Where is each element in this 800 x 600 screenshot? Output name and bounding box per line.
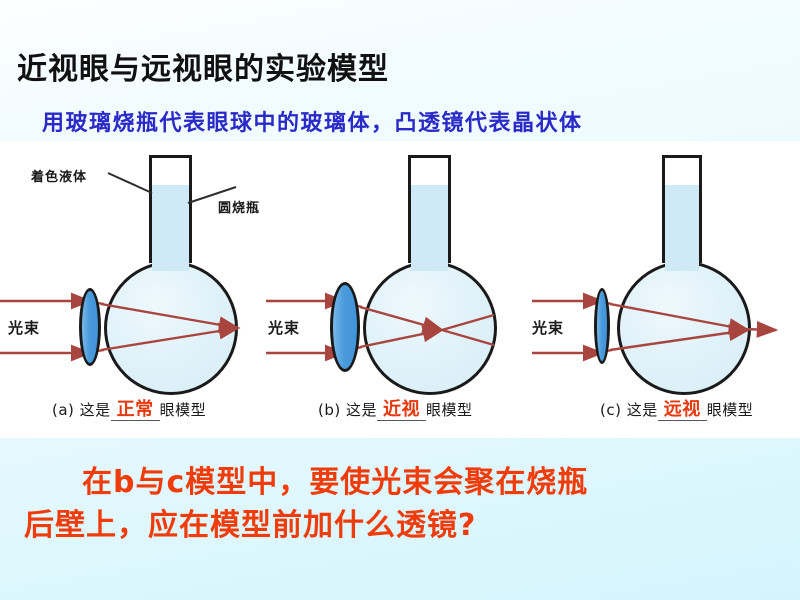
caption-c-suffix: 眼模型 bbox=[707, 401, 754, 419]
page-subtitle: 用玻璃烧瓶代表眼球中的玻璃体，凸透镜代表晶状体 bbox=[42, 105, 583, 137]
convex-lens-a[interactable] bbox=[79, 288, 101, 366]
caption-a-answer[interactable]: 正常 bbox=[111, 401, 160, 421]
question-line-1: 在b与c模型中，要使光束会聚在烧瓶 bbox=[24, 462, 784, 505]
caption-b-prefix: (b) 这是 bbox=[318, 401, 377, 419]
flask-model-c: 光束 bbox=[532, 141, 798, 403]
caption-c-prefix: (c) 这是 bbox=[600, 401, 658, 419]
page-title: 近视眼与远视眼的实验模型 bbox=[17, 44, 389, 88]
caption-b-suffix: 眼模型 bbox=[426, 401, 473, 419]
convex-lens-c[interactable] bbox=[594, 288, 610, 364]
light-rays-b bbox=[266, 141, 532, 403]
caption-a-prefix: (a) 这是 bbox=[52, 401, 111, 419]
question-text: 在b与c模型中，要使光束会聚在烧瓶 后壁上，应在模型前加什么透镜? bbox=[24, 462, 784, 547]
convex-lens-b[interactable] bbox=[330, 282, 360, 372]
flask-model-a: 着色液体 圆烧瓶 光束 bbox=[0, 141, 266, 403]
diagram-panel: 着色液体 圆烧瓶 光束 bbox=[0, 141, 800, 438]
question-line-2: 后壁上，应在模型前加什么透镜? bbox=[24, 505, 784, 548]
caption-b-answer[interactable]: 近视 bbox=[377, 401, 426, 421]
light-rays-a bbox=[0, 141, 266, 403]
flask-model-b: 光束 bbox=[266, 141, 532, 403]
slide-root: 近视眼与远视眼的实验模型 用玻璃烧瓶代表眼球中的玻璃体，凸透镜代表晶状体 bbox=[0, 0, 800, 600]
light-rays-c bbox=[532, 141, 798, 403]
caption-a-suffix: 眼模型 bbox=[160, 401, 207, 419]
caption-c-answer[interactable]: 远视 bbox=[658, 401, 707, 421]
